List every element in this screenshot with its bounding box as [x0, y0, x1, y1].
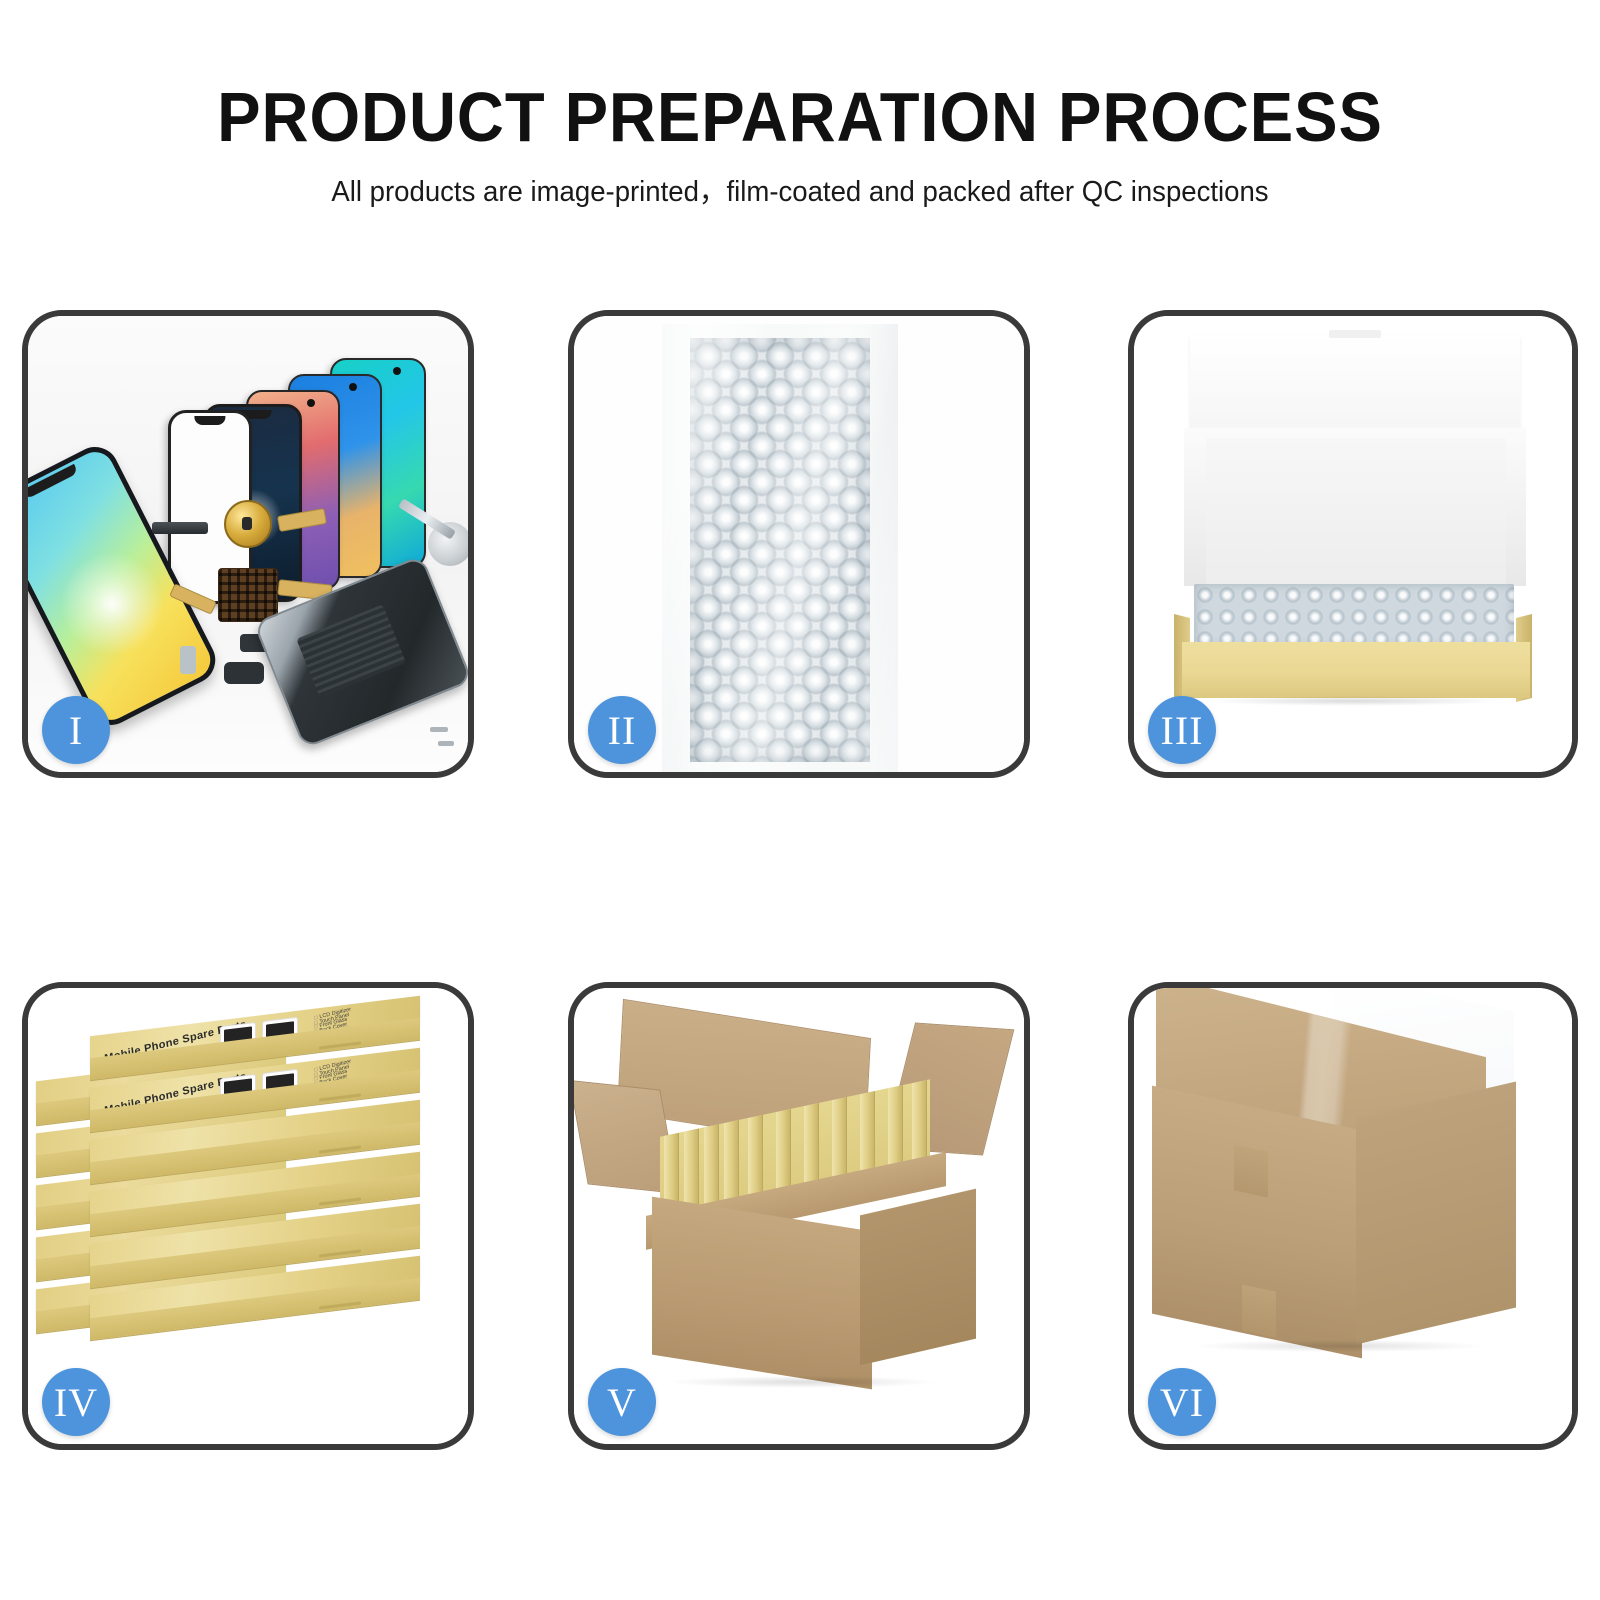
step-panel-4[interactable]: Mobile Phone Spare Parts LCD Digitizer T… — [22, 982, 474, 1450]
carton-front-panel — [652, 1197, 872, 1390]
bubble-wrapped-item — [1194, 584, 1514, 648]
wireless-charging-coil-icon — [224, 500, 272, 548]
speaker-module-part — [152, 522, 208, 534]
step-panel-1[interactable]: 08:08 — [22, 310, 474, 778]
step-badge-2: II — [588, 696, 656, 764]
step-badge-3: III — [1148, 696, 1216, 764]
step-badge-1: I — [42, 696, 110, 764]
ic-chip-part — [218, 568, 278, 622]
box-front-panel — [1182, 642, 1530, 698]
screw-part — [430, 727, 448, 732]
tape-tab-upper — [1234, 1144, 1268, 1197]
phone-screen-fan-icon: 08:08 — [178, 352, 468, 582]
earpiece-part — [224, 662, 264, 684]
foam-liner — [1206, 438, 1506, 586]
screw-part — [438, 741, 454, 746]
box-drop-shadow — [1204, 696, 1504, 706]
plastic-sheen-overlay — [662, 324, 898, 772]
retail-box-stack-front: Mobile Phone Spare Parts LCD Digitizer T… — [90, 1016, 420, 1328]
step-panel-3[interactable]: III — [1128, 310, 1578, 778]
retail-box — [90, 1276, 420, 1322]
process-step-grid: 08:08 — [0, 0, 1600, 1600]
tape-tab-lower — [1242, 1284, 1276, 1337]
step-badge-5: V — [588, 1368, 656, 1436]
carton-drop-shadow — [1194, 1340, 1484, 1352]
step-panel-2[interactable]: II — [568, 310, 1030, 778]
carton-side-panel — [1356, 1082, 1516, 1345]
step-panel-5[interactable]: V — [568, 982, 1030, 1450]
carton-drop-shadow — [670, 1376, 934, 1388]
sim-tray-part — [180, 646, 196, 674]
carton-side-panel — [860, 1189, 976, 1366]
step-panel-6[interactable]: VI — [1128, 982, 1578, 1450]
step-badge-4: IV — [42, 1368, 110, 1436]
step-badge-6: VI — [1148, 1368, 1216, 1436]
